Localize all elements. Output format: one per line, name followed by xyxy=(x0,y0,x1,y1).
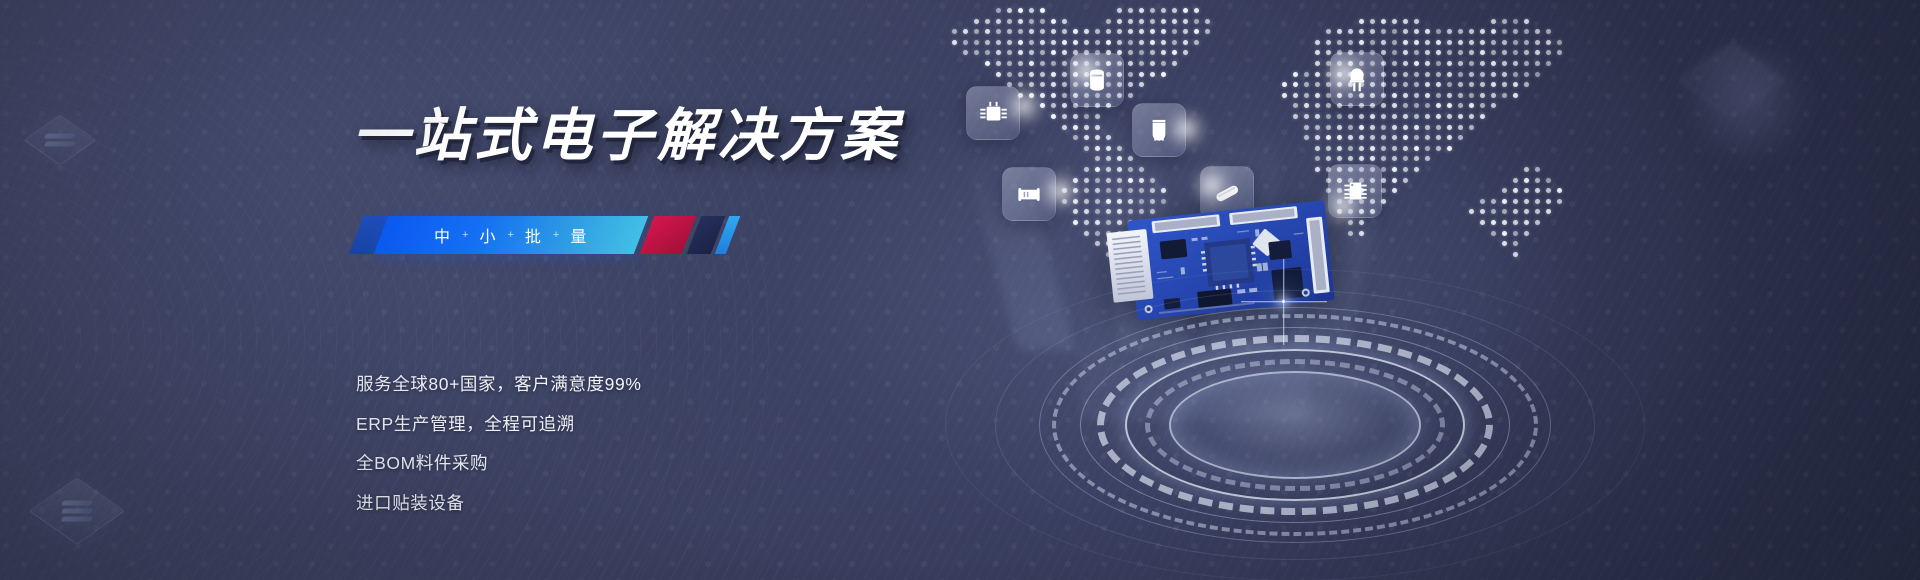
hero-banner: 一站式电子解决方案 中 + 小 + 批 + 量 服务全球80+国家，客户满意度9… xyxy=(0,0,1920,580)
vignette-overlay xyxy=(0,0,1920,580)
